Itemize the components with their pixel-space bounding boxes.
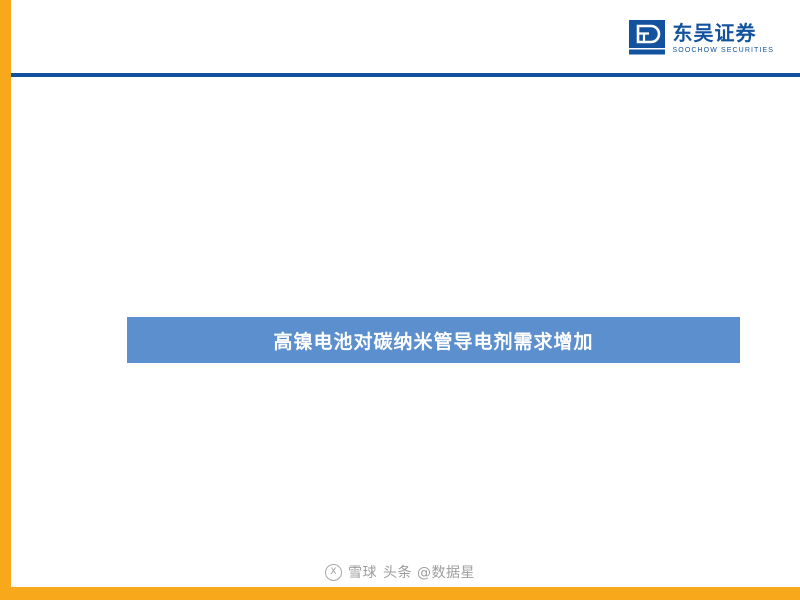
watermark-logo-icon: X bbox=[325, 564, 342, 581]
slide-content-area: 高镍电池对碳纳米管导电剂需求增加 bbox=[11, 77, 800, 577]
section-title-banner: 高镍电池对碳纳米管导电剂需求增加 bbox=[127, 317, 740, 363]
section-title-text: 高镍电池对碳纳米管导电剂需求增加 bbox=[273, 327, 593, 354]
bottom-accent-bar bbox=[0, 587, 800, 600]
company-logo: 东吴证券 SOOCHOW SECURITIES bbox=[629, 20, 774, 56]
logo-company-name-cn: 东吴证券 bbox=[673, 23, 757, 43]
watermark: X 雪球 头条 @数据星 bbox=[0, 562, 800, 582]
logo-text: 东吴证券 SOOCHOW SECURITIES bbox=[673, 23, 774, 54]
watermark-source: 雪球 bbox=[348, 562, 377, 582]
logo-company-name-en: SOOCHOW SECURITIES bbox=[673, 47, 774, 54]
presentation-slide: 东吴证券 SOOCHOW SECURITIES 高镍电池对碳纳米管导电剂需求增加… bbox=[0, 0, 800, 600]
left-accent-bar bbox=[0, 0, 11, 600]
soochow-securities-logo-icon bbox=[629, 20, 665, 56]
watermark-platform: 头条 @数据星 bbox=[383, 562, 475, 582]
